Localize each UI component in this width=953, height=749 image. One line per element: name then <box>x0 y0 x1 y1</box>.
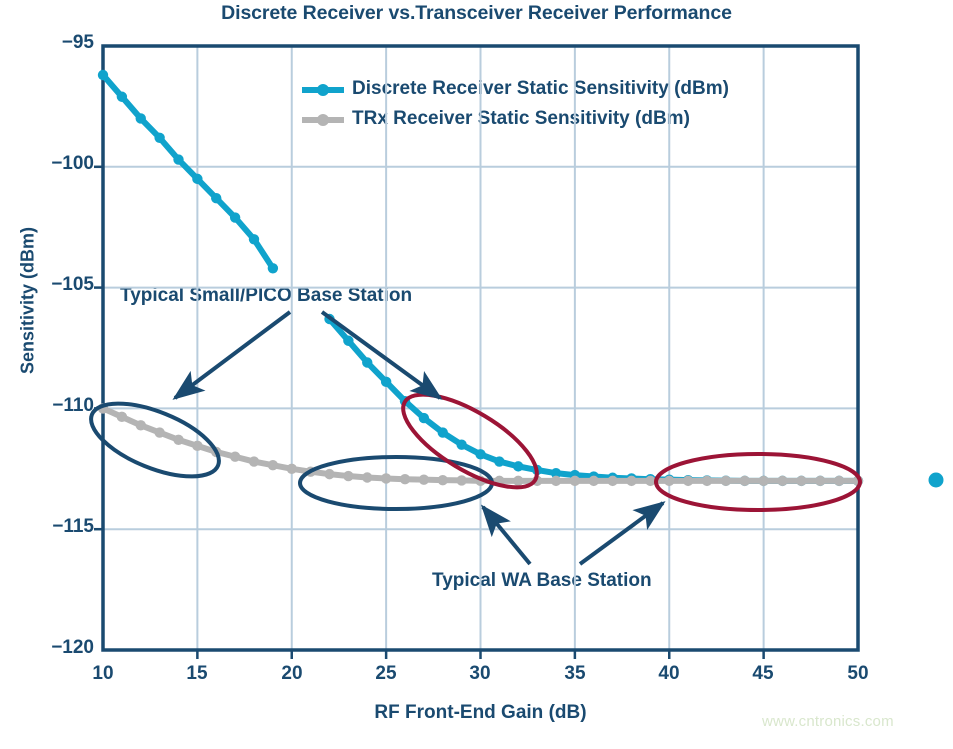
series-marker-discrete <box>343 336 353 346</box>
series-marker-discrete <box>834 476 844 486</box>
series-marker-trx <box>645 476 655 486</box>
series-marker-discrete <box>815 476 825 486</box>
chart-figure: Discrete Receiver vs.Transceiver Receive… <box>0 0 953 749</box>
series-marker-trx <box>777 476 787 486</box>
series-marker-discrete <box>645 474 655 484</box>
y-tick-label: −120 <box>20 637 94 659</box>
series-marker-trx <box>683 476 693 486</box>
x-tick-label: 10 <box>73 663 133 685</box>
series-marker-trx <box>664 476 674 486</box>
series-marker-discrete <box>98 70 108 80</box>
series-marker-trx <box>287 464 297 474</box>
series-marker-discrete <box>268 263 278 273</box>
series-marker-trx <box>570 476 580 486</box>
x-tick-label: 20 <box>262 663 322 685</box>
watermark: www.cntronics.com <box>762 713 894 730</box>
x-tick-label: 40 <box>639 663 699 685</box>
annotation-pico-label: Typical Small/PICO Base Station <box>120 285 412 307</box>
y-tick-label: −110 <box>20 395 94 417</box>
x-tick-label: 50 <box>828 663 888 685</box>
series-marker-discrete <box>381 377 391 387</box>
series-marker-discrete <box>551 468 561 478</box>
series-marker-discrete <box>721 475 731 485</box>
arrow-pico-to-trx <box>175 312 290 398</box>
series-line-discrete <box>330 319 859 481</box>
series-marker-discrete <box>853 476 863 486</box>
series-marker-discrete <box>117 92 127 102</box>
series-line-trx <box>103 408 858 480</box>
y-tick-label: −105 <box>20 274 94 296</box>
series-marker-trx <box>532 476 542 486</box>
series-marker-discrete <box>494 456 504 466</box>
series-marker-trx <box>192 441 202 451</box>
series-marker-trx <box>607 476 617 486</box>
legend-marker-discrete <box>317 84 329 96</box>
trx-low-gain-ellipse <box>81 389 228 492</box>
arrow-pico-to-discrete <box>322 312 440 398</box>
series-marker-discrete <box>173 154 183 164</box>
series-marker-discrete <box>702 475 712 485</box>
x-tick-label: 15 <box>167 663 227 685</box>
highlight-ellipses <box>81 377 860 510</box>
discrete-knee-ellipse <box>390 377 550 505</box>
series-marker-trx <box>853 476 863 486</box>
series-marker-trx <box>98 403 108 413</box>
legend-label-discrete: Discrete Receiver Static Sensitivity (dB… <box>352 78 729 100</box>
series-marker-trx <box>513 476 523 486</box>
series-marker-trx <box>419 474 429 484</box>
x-tick-label: 45 <box>733 663 793 685</box>
series-marker-trx <box>796 476 806 486</box>
series-marker-discrete <box>249 234 259 244</box>
series-marker-trx <box>268 460 278 470</box>
series-marker-trx <box>211 447 221 457</box>
annotation-arrows <box>175 312 663 564</box>
series-marker-trx <box>834 476 844 486</box>
plot-frame <box>103 46 858 650</box>
series-marker-discrete <box>532 465 542 475</box>
series-marker-discrete <box>230 212 240 222</box>
legend-swatches <box>302 84 344 126</box>
series-marker-trx <box>551 476 561 486</box>
y-tick-label: −100 <box>20 153 94 175</box>
series-marker-trx <box>117 412 127 422</box>
series-marker-discrete <box>456 439 466 449</box>
series-marker-discrete <box>154 133 164 143</box>
series-marker-discrete <box>192 174 202 184</box>
stray-data-dot <box>929 473 944 488</box>
series-marker-trx <box>815 476 825 486</box>
series-marker-trx <box>343 471 353 481</box>
series-marker-trx <box>475 476 485 486</box>
series-marker-trx <box>494 476 504 486</box>
x-tick-label: 30 <box>450 663 510 685</box>
series-marker-trx <box>154 427 164 437</box>
series-marker-discrete <box>362 357 372 367</box>
series-marker-discrete <box>777 476 787 486</box>
axis-ticks <box>94 167 764 659</box>
series-marker-discrete <box>400 396 410 406</box>
series-marker-trx <box>324 469 334 479</box>
series-marker-trx <box>758 476 768 486</box>
chart-title: Discrete Receiver vs.Transceiver Receive… <box>0 2 953 25</box>
series-marker-discrete <box>419 413 429 423</box>
series-marker-trx <box>702 476 712 486</box>
series-marker-trx <box>400 474 410 484</box>
series-marker-trx <box>721 476 731 486</box>
series-marker-trx <box>305 467 315 477</box>
series-line-discrete <box>103 75 273 268</box>
series-marker-trx <box>230 452 240 462</box>
y-tick-label: −115 <box>20 516 94 538</box>
converged-region-ellipse <box>656 454 860 510</box>
series-marker-trx <box>626 476 636 486</box>
legend-marker-trx <box>317 114 329 126</box>
series-marker-discrete <box>513 461 523 471</box>
x-axis-title: RF Front-End Gain (dB) <box>103 702 858 724</box>
series-marker-trx <box>381 473 391 483</box>
series-marker-discrete <box>664 474 674 484</box>
series-marker-trx <box>589 476 599 486</box>
y-axis-title: Sensitivity (dBm) <box>18 181 39 421</box>
series-marker-trx <box>136 420 146 430</box>
series-marker-trx <box>249 456 259 466</box>
data-series-layer <box>98 70 863 486</box>
series-marker-discrete <box>438 427 448 437</box>
series-marker-trx <box>438 475 448 485</box>
series-marker-trx <box>740 476 750 486</box>
trx-flat-region-ellipse <box>300 457 492 509</box>
series-marker-discrete <box>589 471 599 481</box>
series-marker-discrete <box>796 476 806 486</box>
series-marker-discrete <box>740 476 750 486</box>
x-tick-label: 25 <box>356 663 416 685</box>
annotation-wa-label: Typical WA Base Station <box>432 570 652 592</box>
series-marker-discrete <box>324 314 334 324</box>
series-marker-trx <box>362 472 372 482</box>
y-tick-label: −95 <box>20 32 94 54</box>
arrow-wa-to-right <box>580 503 663 564</box>
series-marker-discrete <box>626 473 636 483</box>
series-marker-discrete <box>570 470 580 480</box>
legend-label-trx: TRx Receiver Static Sensitivity (dBm) <box>352 108 690 130</box>
series-marker-discrete <box>211 193 221 203</box>
series-marker-discrete <box>683 475 693 485</box>
series-marker-discrete <box>475 449 485 459</box>
series-marker-trx <box>173 435 183 445</box>
arrow-wa-to-middle <box>483 507 530 564</box>
stray-marker-layer <box>929 473 944 488</box>
series-marker-discrete <box>758 476 768 486</box>
gridlines <box>103 46 858 650</box>
x-tick-label: 35 <box>545 663 605 685</box>
series-marker-discrete <box>607 473 617 483</box>
series-marker-discrete <box>136 113 146 123</box>
series-marker-trx <box>456 475 466 485</box>
